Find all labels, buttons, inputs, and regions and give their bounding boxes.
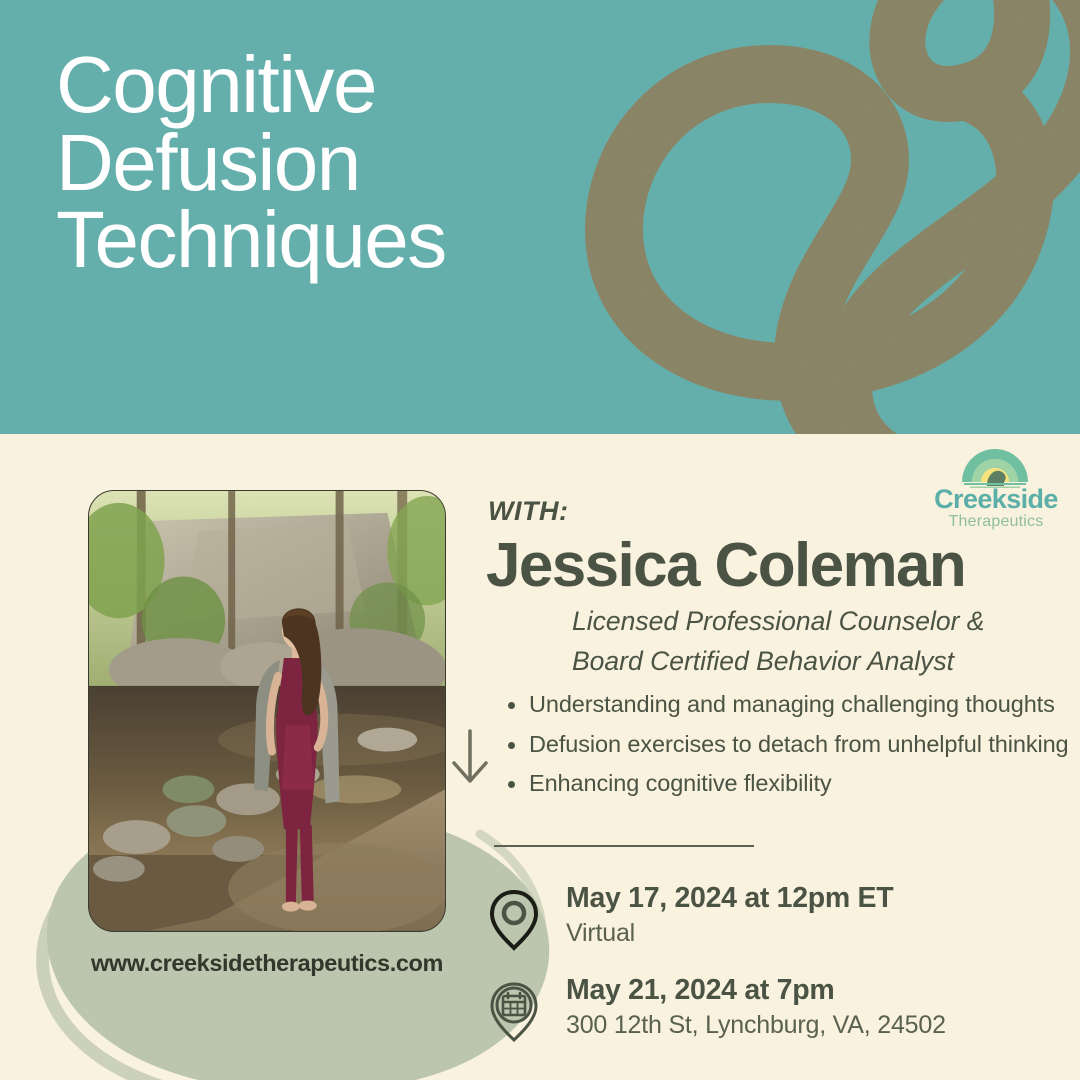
title-line-2: Defusion (56, 124, 676, 202)
logo-wordmark: Creekside (920, 486, 1072, 513)
event-title: May 21, 2024 at 7pm (566, 974, 1046, 1007)
event-details: May 17, 2024 at 12pm ET Virtual May 21, … (486, 882, 1046, 1066)
event-row-in-person: May 21, 2024 at 7pm 300 12th St, Lynchbu… (486, 974, 1046, 1066)
website-url[interactable]: www.creeksidetherapeutics.com (88, 950, 446, 977)
list-item: Understanding and managing challenging t… (508, 690, 1053, 719)
header-banner: Cognitive Defusion Techniques (0, 0, 1080, 434)
calendar-pin-icon (486, 978, 542, 1044)
speaker-photo (88, 490, 446, 932)
sunrise-head-profile-icon (956, 442, 1034, 488)
body-section: www.creeksidetherapeutics.com Creekside … (0, 434, 1080, 1080)
poster-title: Cognitive Defusion Techniques (56, 46, 676, 279)
bullet-dot-icon (508, 781, 515, 788)
with-label: WITH: (488, 496, 568, 527)
down-arrow-icon (448, 729, 492, 789)
list-item-label: Understanding and managing challenging t… (529, 690, 1055, 719)
creek-portrait-illustration (89, 491, 445, 931)
list-item-label: Defusion exercises to detach from unhelp… (529, 730, 1069, 759)
creekside-logo[interactable]: Creekside Therapeutics (920, 442, 1072, 534)
list-item: Enhancing cognitive flexibility (508, 769, 1053, 798)
speaker-credential-1: Licensed Professional Counselor & (572, 606, 984, 637)
section-divider (494, 845, 754, 847)
speaker-credential-2: Board Certified Behavior Analyst (572, 646, 954, 677)
event-title: May 17, 2024 at 12pm ET (566, 882, 1046, 915)
topics-list: Understanding and managing challenging t… (508, 690, 1053, 809)
logo-tagline: Therapeutics (920, 514, 1072, 530)
bullet-dot-icon (508, 702, 515, 709)
event-row-virtual: May 17, 2024 at 12pm ET Virtual (486, 882, 1046, 974)
list-item: Defusion exercises to detach from unhelp… (508, 730, 1053, 759)
event-subtitle: 300 12th St, Lynchburg, VA, 24502 (566, 1011, 1046, 1040)
location-pin-icon (486, 886, 542, 952)
title-line-1: Cognitive (56, 46, 676, 124)
title-line-3: Techniques (56, 201, 676, 279)
webinar-poster: Cognitive Defusion Techniques (0, 0, 1080, 1080)
list-item-label: Enhancing cognitive flexibility (529, 769, 832, 798)
speaker-name: Jessica Coleman (486, 530, 965, 601)
bullet-dot-icon (508, 742, 515, 749)
event-subtitle: Virtual (566, 919, 1046, 948)
